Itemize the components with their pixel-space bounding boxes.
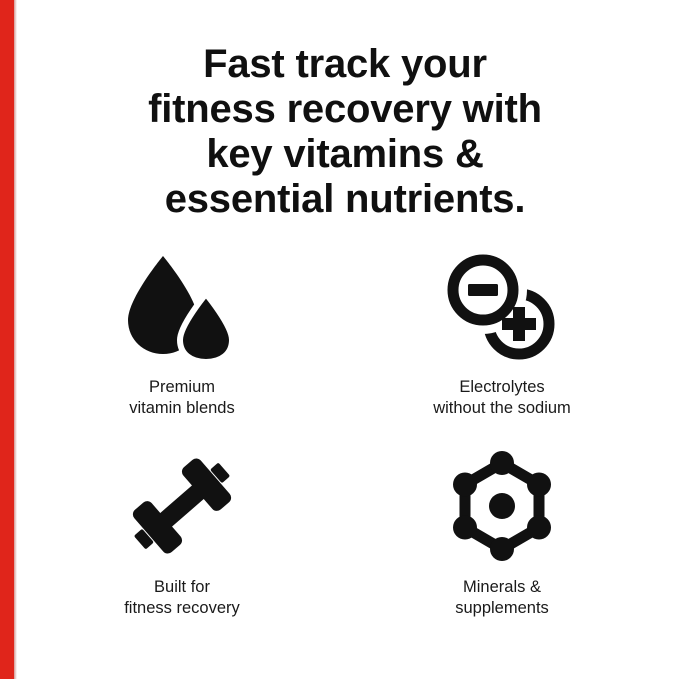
feature-caption: Electrolytes without the sodium bbox=[433, 377, 571, 419]
feature-item-minerals-supplements: Minerals & supplements bbox=[342, 448, 662, 648]
left-red-stripe bbox=[0, 0, 14, 679]
infographic-page: Fast track your fitness recovery with ke… bbox=[0, 0, 679, 679]
molecule-hexagon-icon bbox=[437, 448, 567, 563]
feature-caption-line-2: supplements bbox=[455, 598, 549, 619]
feature-caption-line-1: Electrolytes bbox=[433, 377, 571, 398]
headline-line-3: key vitamins & bbox=[40, 132, 650, 177]
feature-caption-line-2: fitness recovery bbox=[124, 598, 240, 619]
dumbbell-icon bbox=[117, 448, 247, 563]
feature-caption-line-1: Minerals & bbox=[455, 577, 549, 598]
headline-line-1: Fast track your bbox=[40, 42, 650, 87]
feature-caption-line-1: Premium bbox=[129, 377, 234, 398]
headline: Fast track your fitness recovery with ke… bbox=[40, 42, 650, 222]
feature-caption-line-2: without the sodium bbox=[433, 398, 571, 419]
feature-caption: Minerals & supplements bbox=[455, 577, 549, 619]
headline-line-2: fitness recovery with bbox=[40, 87, 650, 132]
feature-item-premium-vitamin-blends: Premium vitamin blends bbox=[22, 248, 342, 448]
feature-caption: Premium vitamin blends bbox=[129, 377, 234, 419]
feature-grid: Premium vitamin blends bbox=[22, 248, 662, 648]
feature-caption-line-2: vitamin blends bbox=[129, 398, 234, 419]
feature-item-built-for-fitness-recovery: Built for fitness recovery bbox=[22, 448, 342, 648]
water-drops-icon bbox=[117, 248, 247, 363]
feature-item-electrolytes: Electrolytes without the sodium bbox=[342, 248, 662, 448]
left-red-stripe-shadow bbox=[14, 0, 17, 679]
feature-caption-line-1: Built for bbox=[124, 577, 240, 598]
plus-minus-circles-icon bbox=[437, 248, 567, 363]
headline-line-4: essential nutrients. bbox=[40, 177, 650, 222]
feature-caption: Built for fitness recovery bbox=[124, 577, 240, 619]
